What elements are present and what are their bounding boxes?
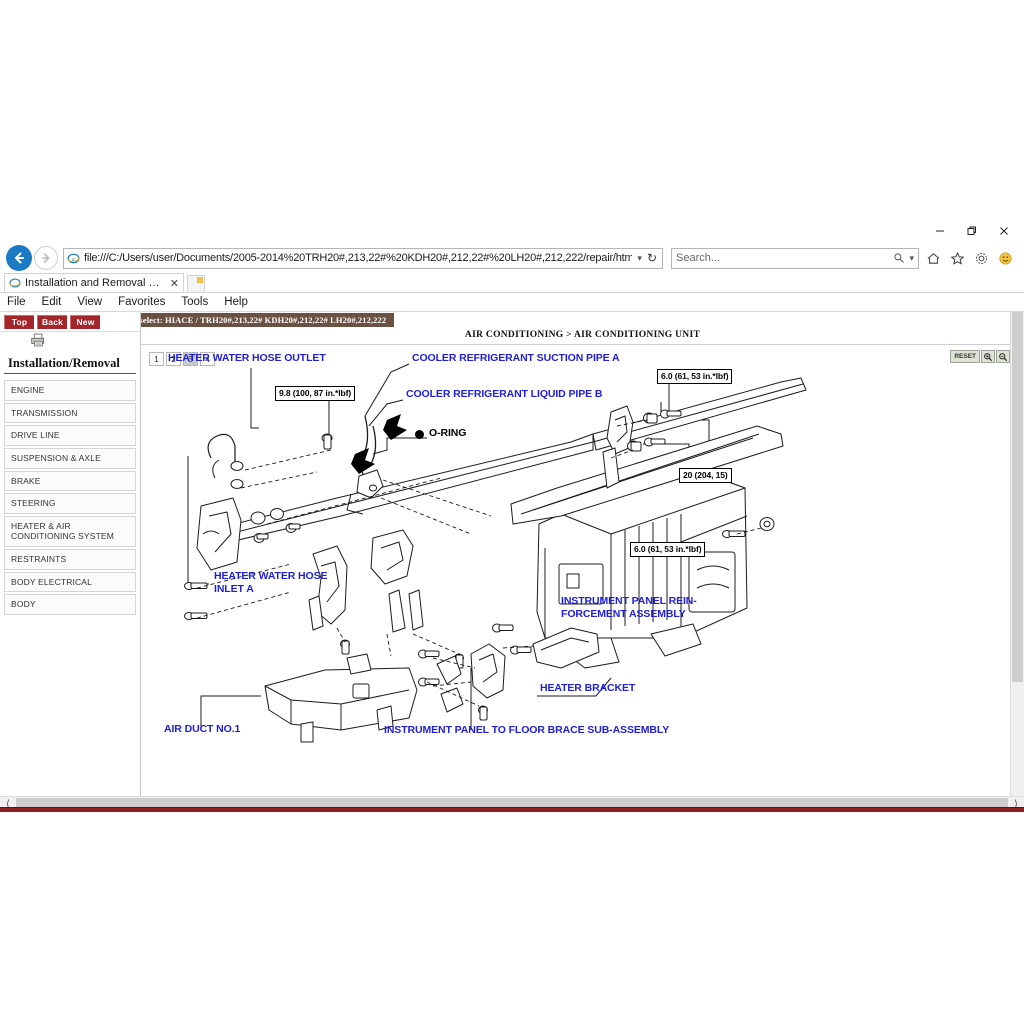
refresh-icon[interactable]: ↻: [647, 251, 659, 265]
address-bar-url: file:///C:/Users/user/Documents/2005-201…: [84, 252, 632, 264]
home-icon[interactable]: [925, 250, 942, 267]
document-frame: Your select: HIACE / TRH20#,213,22# KDH2…: [140, 312, 1024, 812]
exploded-view-diagram: HEATER WATER HOSE OUTLET COOLER REFRIGER…: [141, 338, 1024, 812]
label-heater-water-hose-inlet-a: HEATER WATER HOSE INLET A: [214, 570, 327, 597]
sidebar-item-label: DRIVE LINE: [11, 430, 60, 441]
torque-spec-6-0-lower: 6.0 (61, 53 in.*lbf): [630, 542, 705, 557]
sidebar-item-restraints[interactable]: RESTRAINTS: [4, 549, 136, 570]
browser-search-box[interactable]: Search... ▾: [671, 248, 919, 269]
label-heater-water-hose-outlet: HEATER WATER HOSE OUTLET: [168, 352, 326, 365]
sidebar-item-label: BRAKE: [11, 476, 41, 487]
label-cooler-refrigerant-liquid-pipe-b: COOLER REFRIGERANT LIQUID PIPE B: [406, 388, 602, 401]
sidebar-item-label: HEATER & AIR CONDITIONING SYSTEM: [11, 521, 131, 542]
tab-close-icon[interactable]: ✕: [170, 277, 179, 290]
address-bar-dropdown-icon[interactable]: ▾: [632, 253, 647, 264]
sidebar-item-label: BODY: [11, 599, 36, 610]
window-controls: [924, 219, 1020, 243]
o-ring-bullet-icon: [415, 430, 424, 439]
search-dropdown-icon[interactable]: ▾: [905, 253, 914, 264]
torque-spec-20: 20 (204, 15): [679, 468, 732, 483]
sidebar-item-engine[interactable]: ENGINE: [4, 380, 136, 401]
torque-spec-6-0-upper: 6.0 (61, 53 in.*lbf): [657, 369, 732, 384]
sidebar-item-heater-air-conditioning-system[interactable]: HEATER & AIR CONDITIONING SYSTEM: [4, 516, 136, 547]
back-arrow-icon[interactable]: [6, 245, 32, 271]
sidebar-item-label: ENGINE: [11, 385, 45, 396]
page-title: Installation/Removal: [4, 354, 136, 374]
sidebar-item-steering[interactable]: STEERING: [4, 493, 136, 514]
printer-icon[interactable]: [30, 333, 47, 352]
label-cooler-refrigerant-suction-pipe-a: COOLER REFRIGERANT SUCTION PIPE A: [412, 352, 620, 365]
search-input[interactable]: Search...: [676, 252, 893, 264]
browser-menu-bar: File Edit View Favorites Tools Help: [0, 293, 1024, 312]
back-button[interactable]: Back: [37, 315, 67, 329]
label-instrument-panel-reinforcement-assembly: INSTRUMENT PANEL REIN- FORCEMENT ASSEMBL…: [561, 595, 697, 622]
vertical-scrollbar[interactable]: ⌄: [1010, 312, 1024, 812]
vertical-scrollbar-thumb[interactable]: [1012, 312, 1023, 682]
menu-file[interactable]: File: [6, 296, 27, 308]
minimize-button[interactable]: [924, 220, 956, 242]
svg-text:e: e: [72, 255, 75, 262]
menu-view[interactable]: View: [76, 296, 103, 308]
sidebar-item-label: RESTRAINTS: [11, 554, 66, 565]
menu-edit[interactable]: Edit: [41, 296, 63, 308]
address-bar[interactable]: e file:///C:/Users/user/Documents/2005-2…: [63, 248, 663, 269]
tab-favicon-icon: [9, 277, 21, 289]
sidebar-item-label: TRANSMISSION: [11, 408, 78, 419]
sidebar-item-label: BODY ELECTRICAL: [11, 577, 92, 588]
sidebar-item-brake[interactable]: BRAKE: [4, 471, 136, 492]
new-tab-button[interactable]: [187, 275, 205, 292]
sidebar-item-body-electrical[interactable]: BODY ELECTRICAL: [4, 572, 136, 593]
sidebar: Top Back New Installation/Removal: [0, 312, 140, 812]
torque-spec-9-8: 9.8 (100, 87 in.*lbf): [275, 386, 355, 401]
page-content: Top Back New Installation/Removal: [0, 312, 1024, 812]
label-air-duct-no1: AIR DUCT NO.1: [164, 723, 240, 736]
internet-explorer-icon: e: [67, 252, 80, 265]
sidebar-item-suspension-axle[interactable]: SUSPENSION & AXLE: [4, 448, 136, 469]
top-button[interactable]: Top: [4, 315, 34, 329]
sidebar-item-label: STEERING: [11, 498, 56, 509]
tab-title: Installation and Removal M...: [25, 277, 164, 289]
sidebar-top-buttons: Top Back New: [0, 312, 140, 332]
restore-button[interactable]: [956, 220, 988, 242]
smiley-icon[interactable]: [997, 250, 1014, 267]
label-o-ring: O-RING: [429, 427, 466, 440]
selection-banner: Your select: HIACE / TRH20#,213,22# KDH2…: [140, 313, 394, 327]
forward-arrow-icon[interactable]: [34, 246, 58, 270]
selection-bar-row: Your select: HIACE / TRH20#,213,22# KDH2…: [140, 312, 1024, 330]
settings-gear-icon[interactable]: [973, 250, 990, 267]
search-icon[interactable]: [893, 252, 905, 264]
browser-tab[interactable]: Installation and Removal M... ✕: [4, 273, 184, 292]
browser-command-icons: [925, 250, 1014, 267]
sidebar-nav-list: ENGINE TRANSMISSION DRIVE LINE SUSPENSIO…: [0, 380, 140, 615]
print-row: [0, 332, 140, 352]
bottom-accent-bar: [0, 807, 1024, 812]
menu-help[interactable]: Help: [223, 296, 249, 308]
favorites-star-icon[interactable]: [949, 250, 966, 267]
close-button[interactable]: [988, 220, 1020, 242]
diagram-artwork: [141, 338, 1011, 778]
sidebar-item-transmission[interactable]: TRANSMISSION: [4, 403, 136, 424]
sidebar-item-drive-line[interactable]: DRIVE LINE: [4, 425, 136, 446]
new-button[interactable]: New: [70, 315, 100, 329]
browser-window: e file:///C:/Users/user/Documents/2005-2…: [0, 218, 1024, 798]
menu-favorites[interactable]: Favorites: [117, 296, 166, 308]
browser-titlebar: [0, 219, 1024, 243]
sidebar-item-body[interactable]: BODY: [4, 594, 136, 615]
label-instrument-panel-to-floor-brace-sub-assembly: INSTRUMENT PANEL TO FLOOR BRACE SUB-ASSE…: [384, 724, 669, 737]
label-heater-bracket: HEATER BRACKET: [540, 682, 635, 695]
menu-tools[interactable]: Tools: [180, 296, 209, 308]
sidebar-item-label: SUSPENSION & AXLE: [11, 453, 101, 464]
browser-tab-strip: Installation and Removal M... ✕: [0, 273, 1024, 293]
browser-navigation-bar: e file:///C:/Users/user/Documents/2005-2…: [0, 243, 1024, 273]
